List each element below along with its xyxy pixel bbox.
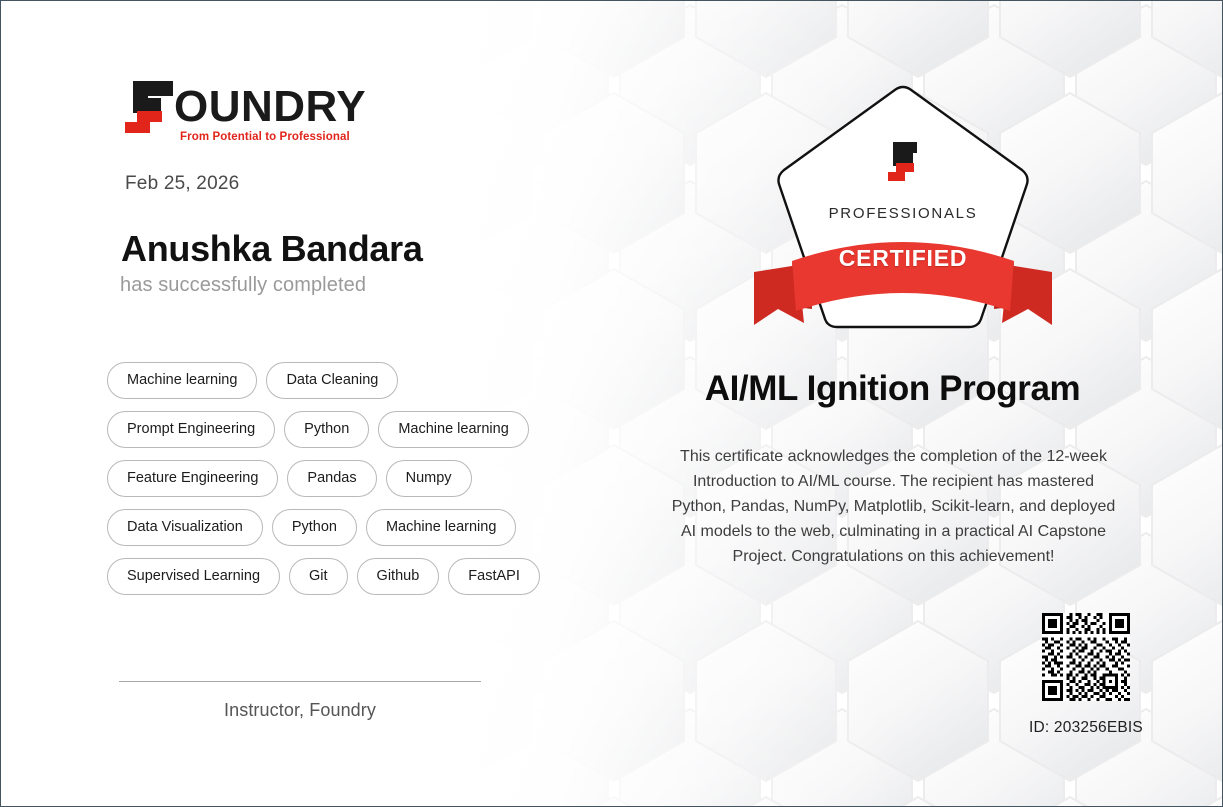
skill-tag[interactable]: Prompt Engineering: [107, 411, 275, 448]
right-column: PROFESSIONALS CERTIFIED AI/ML Ignition P…: [601, 1, 1223, 807]
skill-tag-row: Prompt Engineering Python Machine learni…: [107, 411, 577, 448]
skill-tag[interactable]: Feature Engineering: [107, 460, 278, 497]
issue-date: Feb 25, 2026: [125, 173, 239, 195]
badge-professionals-label: PROFESSIONALS: [758, 205, 1048, 222]
skill-tag[interactable]: Git: [289, 558, 348, 595]
badge-certified-label: CERTIFIED: [758, 245, 1048, 272]
skill-tag[interactable]: Github: [357, 558, 440, 595]
brand-wordmark: OUNDRY: [174, 85, 366, 129]
skill-tag[interactable]: Machine learning: [378, 411, 528, 448]
brand-tagline: From Potential to Professional: [180, 131, 350, 143]
skill-tag[interactable]: Data Visualization: [107, 509, 263, 546]
skill-tag-row: Feature Engineering Pandas Numpy: [107, 460, 577, 497]
skill-tag-row: Machine learning Data Cleaning: [107, 362, 577, 399]
skill-tag[interactable]: Numpy: [386, 460, 472, 497]
verification-block: ID: 203256EBIS: [991, 613, 1181, 737]
certificate-id: ID: 203256EBIS: [991, 719, 1181, 737]
recipient-name: Anushka Bandara: [121, 229, 423, 269]
certified-badge-seal: PROFESSIONALS CERTIFIED: [758, 79, 1048, 339]
skill-tag[interactable]: Pandas: [287, 460, 376, 497]
skill-tag-list: Machine learning Data Cleaning Prompt En…: [107, 362, 577, 607]
program-description: This certificate acknowledges the comple…: [671, 444, 1116, 569]
skill-tag[interactable]: Machine learning: [107, 362, 257, 399]
qr-code-icon[interactable]: [1042, 613, 1130, 701]
skill-tag[interactable]: Machine learning: [366, 509, 516, 546]
skill-tag[interactable]: FastAPI: [448, 558, 540, 595]
signature-label: Instructor, Foundry: [119, 700, 481, 721]
skill-tag[interactable]: Python: [272, 509, 357, 546]
brand-logo: OUNDRY From Potential to Professional: [119, 79, 359, 151]
foundry-f-staircase-logo-icon: [119, 79, 175, 137]
certificate-page: OUNDRY From Potential to Professional Fe…: [0, 0, 1223, 807]
program-title: AI/ML Ignition Program: [601, 369, 1184, 409]
skill-tag[interactable]: Python: [284, 411, 369, 448]
left-column: OUNDRY From Potential to Professional Fe…: [1, 1, 601, 807]
completion-text: has successfully completed: [120, 274, 366, 297]
skill-tag-row: Data Visualization Python Machine learni…: [107, 509, 577, 546]
signature-line: [119, 681, 481, 682]
skill-tag[interactable]: Supervised Learning: [107, 558, 280, 595]
skill-tag[interactable]: Data Cleaning: [266, 362, 398, 399]
certified-ribbon-banner: [752, 227, 1054, 339]
skill-tag-row: Supervised Learning Git Github FastAPI: [107, 558, 577, 595]
signature-block: Instructor, Foundry: [119, 681, 481, 721]
foundry-f-staircase-logo-icon: [887, 141, 921, 193]
